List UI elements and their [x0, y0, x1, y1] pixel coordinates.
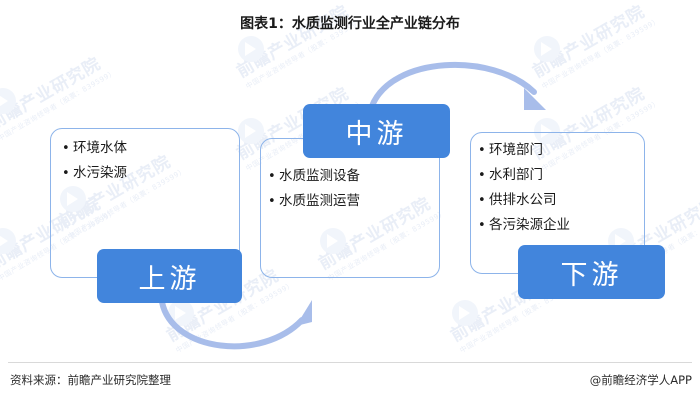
footer-divider — [8, 362, 692, 363]
credit-note: @前瞻经济学人APP — [590, 372, 692, 388]
watermark-logo-icon — [534, 36, 560, 62]
list-item: 水质监测运营 — [268, 189, 443, 214]
arrow-midstream-to-downstream-head — [524, 88, 546, 110]
midstream-item-list: 水质监测设备 水质监测运营 — [268, 164, 443, 214]
stage-label-midstream[interactable]: 中游 — [303, 104, 450, 158]
arrow-upstream-to-midstream — [162, 302, 302, 346]
watermark-logo-icon — [452, 300, 478, 326]
stage-label-downstream[interactable]: 下游 — [518, 245, 665, 299]
list-item: 水利部门 — [478, 163, 653, 188]
chart-canvas: 前瞻产业研究院 中国产业咨询领导者（股票：839599） 前瞻产业研究院 中国产… — [0, 0, 700, 406]
list-item: 供排水公司 — [478, 188, 653, 213]
list-item: 环境部门 — [478, 138, 653, 163]
list-item: 各污染源企业 — [478, 213, 653, 238]
watermark-logo-icon — [0, 88, 16, 114]
list-item: 环境水体 — [62, 136, 242, 161]
watermark-logo-icon — [168, 300, 194, 326]
arrow-midstream-to-downstream — [372, 65, 534, 106]
arrow-upstream-to-midstream-head — [296, 300, 312, 326]
downstream-item-list: 环境部门 水利部门 供排水公司 各污染源企业 — [478, 138, 653, 238]
source-note: 资料来源：前瞻产业研究院整理 — [10, 372, 171, 388]
watermark-logo-icon — [238, 36, 264, 62]
list-item: 水质监测设备 — [268, 164, 443, 189]
stage-label-upstream[interactable]: 上游 — [97, 249, 242, 303]
upstream-item-list: 环境水体 水污染源 — [62, 136, 242, 186]
page-title: 图表1：水质监测行业全产业链分布 — [0, 13, 700, 33]
list-item: 水污染源 — [62, 161, 242, 186]
watermark-logo-icon — [0, 228, 16, 254]
